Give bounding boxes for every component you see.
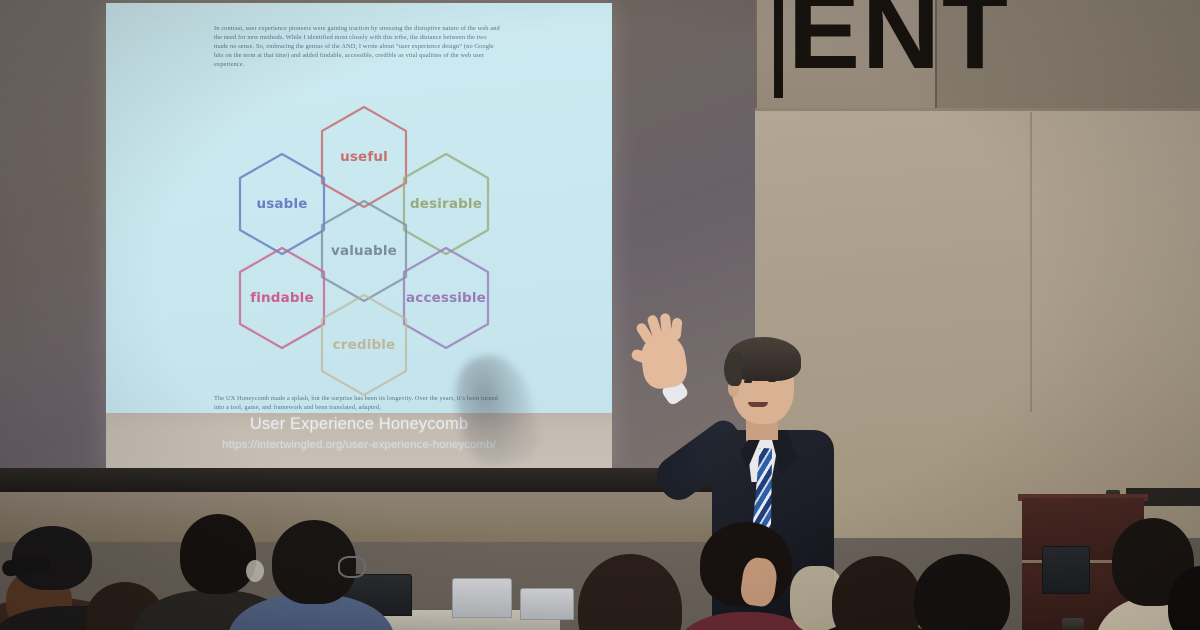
- hex-label-findable: findable: [250, 290, 314, 306]
- wall-trim: [755, 108, 1200, 111]
- wall-signage: ENT: [758, 0, 1018, 98]
- laptop: [452, 578, 512, 618]
- speaker-mouth: [748, 402, 768, 407]
- laptop: [1042, 546, 1090, 594]
- hex-cell-credible: credible: [316, 291, 412, 399]
- wall-trim: [1030, 112, 1032, 412]
- laptop: [520, 588, 574, 620]
- projection-screen: In contrast, user experience pioneers we…: [106, 3, 612, 469]
- hex-label-accessible: accessible: [406, 290, 486, 306]
- audience-head: [914, 554, 1010, 630]
- wall-seam: [755, 0, 757, 112]
- hex-cell-accessible: accessible: [398, 244, 494, 352]
- slide-paragraph-top: In contrast, user experience pioneers we…: [214, 24, 502, 69]
- audience-head: [180, 514, 256, 594]
- presentation-photo-scene: ENT In contrast, user experience pioneer…: [0, 0, 1200, 630]
- hex-label-useful: useful: [340, 149, 388, 165]
- audience-head: [578, 554, 682, 630]
- audience-head: [832, 556, 922, 630]
- hex-cell-desirable: desirable: [398, 150, 494, 258]
- audience: [0, 470, 1200, 630]
- hex-label-usable: usable: [256, 196, 307, 212]
- eyeglasses: [338, 556, 366, 578]
- speaker-hand: [639, 333, 690, 391]
- hex-label-desirable: desirable: [410, 196, 482, 212]
- signage-bar: [774, 0, 783, 98]
- ux-honeycomb-diagram: useful usable desirable valuable findabl: [226, 109, 502, 361]
- projected-slide: In contrast, user experience pioneers we…: [106, 3, 612, 413]
- hex-label-valuable: valuable: [331, 243, 397, 259]
- speaker-hair-side: [724, 352, 742, 386]
- signage-text: ENT: [788, 0, 1010, 86]
- hex-label-credible: credible: [333, 337, 396, 353]
- face-mask: [246, 560, 264, 582]
